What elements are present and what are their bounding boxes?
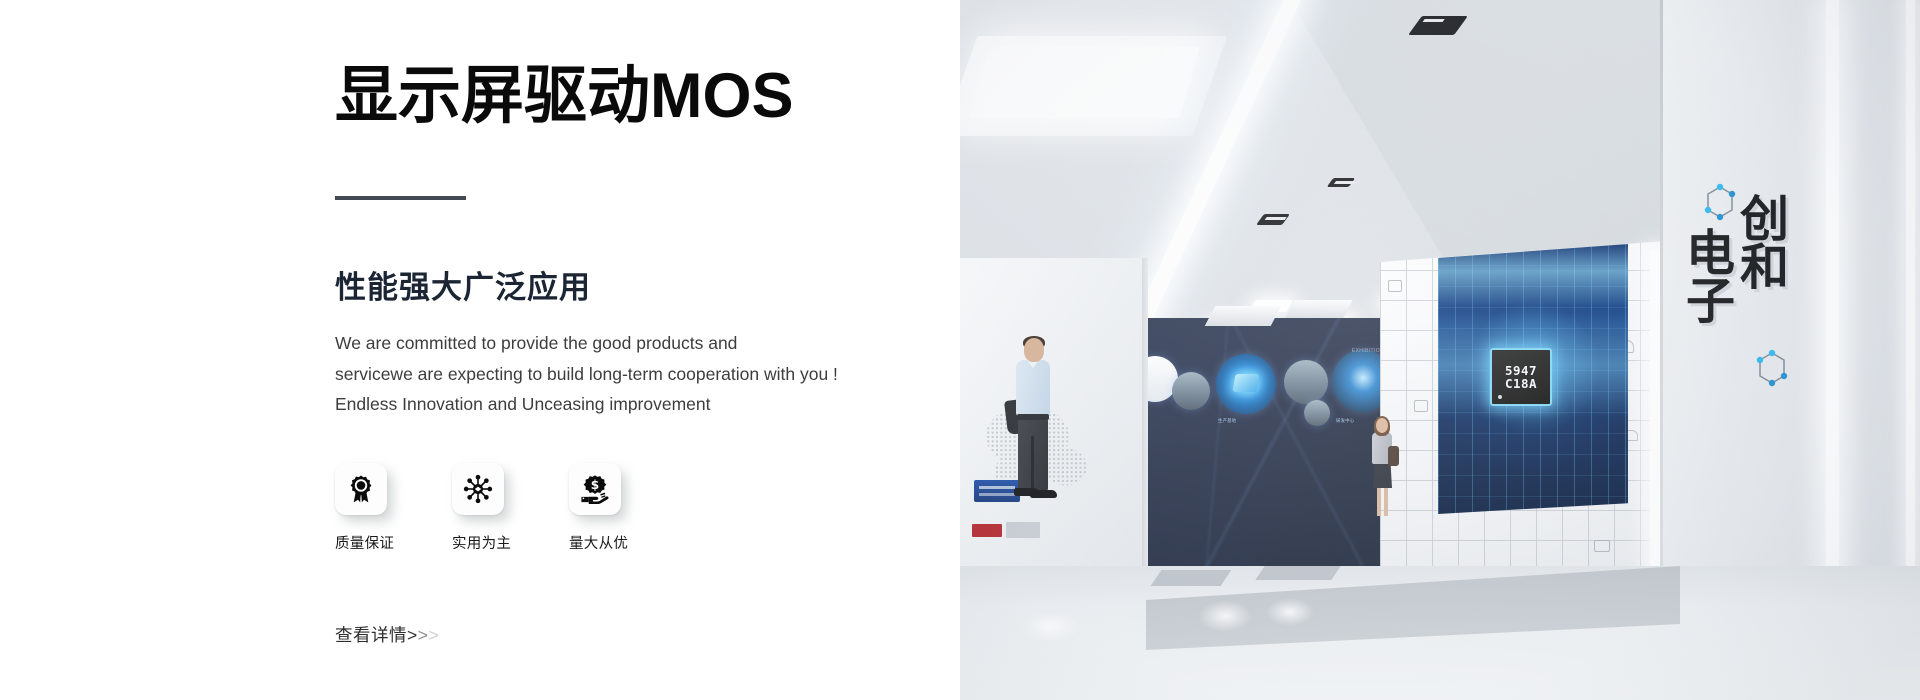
view-details-link[interactable]: 查看详情>>> xyxy=(335,622,439,647)
handbag xyxy=(1388,446,1399,466)
subtitle: 性能强大广泛应用 xyxy=(335,262,591,307)
page-title: 显示屏驱动MOS xyxy=(335,62,794,131)
porthole xyxy=(1304,400,1330,426)
feature-item-quality[interactable]: 质量保证 xyxy=(335,463,387,553)
logo-column-left: 电 子 xyxy=(1686,230,1734,326)
tile-pictogram xyxy=(1388,280,1402,292)
hexagon-molecule-icon xyxy=(1698,180,1742,230)
feature-item-practical[interactable]: 实用为主 xyxy=(452,463,504,553)
blue-circuit-display: 5947 C18A xyxy=(1438,244,1628,514)
svg-text:$: $ xyxy=(591,478,599,492)
feature-tile: $ xyxy=(569,463,621,515)
logo-char-chuang: 创 xyxy=(1740,196,1788,244)
belt xyxy=(1017,414,1049,420)
ceiling-baffle xyxy=(1205,306,1282,326)
logo-column-right: 创 和 xyxy=(1740,196,1788,326)
floor-reflection xyxy=(1020,612,1080,642)
floor-tile xyxy=(1255,566,1340,580)
shoe xyxy=(1030,490,1057,498)
hexagon-molecule-icon xyxy=(1750,346,1794,396)
left-text-panel: 显示屏驱动MOS 性能强大广泛应用 We are committed to pr… xyxy=(0,0,960,700)
porthole xyxy=(1216,354,1276,414)
head xyxy=(1376,418,1388,433)
feature-label: 质量保证 xyxy=(335,532,394,553)
description-line-3: Endless Innovation and Unceasing improve… xyxy=(335,389,895,420)
floor-tile xyxy=(1151,570,1232,586)
cta-chevron-1: > xyxy=(407,625,418,646)
feature-tile xyxy=(452,463,504,515)
feature-list: 质量保证 xyxy=(335,463,621,553)
legs xyxy=(1377,486,1388,516)
description-line-2: servicewe are expecting to build long-te… xyxy=(335,359,895,390)
logo-char-zi: 子 xyxy=(1686,278,1734,326)
title-divider xyxy=(335,196,466,200)
porthole xyxy=(1172,372,1210,410)
skirt xyxy=(1373,462,1392,488)
ceiling-baffle xyxy=(1285,300,1353,318)
cta-chevron-3: > xyxy=(428,625,439,646)
wall-red-sign xyxy=(972,524,1002,537)
trousers xyxy=(1018,418,1048,490)
logo-char-dian: 电 xyxy=(1686,230,1734,278)
skylight-panel xyxy=(970,46,1201,118)
wall-logo: 电 子 创 和 xyxy=(1686,196,1788,326)
cta-label: 查看详情 xyxy=(335,622,407,647)
chip-package: 5947 C18A xyxy=(1490,348,1552,406)
person-businesswoman xyxy=(1364,418,1398,522)
dress-shirt xyxy=(1016,360,1050,416)
porthole xyxy=(1284,360,1328,404)
person-businessman xyxy=(1002,338,1062,502)
award-ribbon-icon xyxy=(346,474,376,504)
wall-grey-sign xyxy=(1006,522,1040,538)
logo-char-he: 和 xyxy=(1740,244,1788,292)
chip-code-line-1: 5947 xyxy=(1505,364,1537,378)
feature-label: 实用为主 xyxy=(452,532,511,553)
tile-pictogram xyxy=(1594,540,1610,552)
feature-item-bulk[interactable]: $ 量大从优 xyxy=(569,463,621,553)
chip-code-line-2: C18A xyxy=(1505,377,1537,391)
porthole-label: 生产基地 xyxy=(1218,418,1236,424)
hand-money-icon: $ xyxy=(580,474,610,504)
porthole-label: 研发中心 xyxy=(1336,418,1354,424)
showroom-photo: 生产基地 研发中心 展厅 EXHIBITION HALL xyxy=(960,0,1920,700)
cta-chevron-2: > xyxy=(418,625,429,646)
description-line-1: We are committed to provide the good pro… xyxy=(335,328,895,359)
tile-pictogram xyxy=(1414,400,1428,412)
description-paragraph: We are committed to provide the good pro… xyxy=(335,328,895,420)
feature-label: 量大从优 xyxy=(569,532,628,553)
hero-banner: 显示屏驱动MOS 性能强大广泛应用 We are committed to pr… xyxy=(0,0,1920,700)
floor-reflection xyxy=(1198,600,1252,632)
floor-reflection xyxy=(1266,598,1314,626)
feature-tile xyxy=(335,463,387,515)
network-hub-icon xyxy=(463,474,493,504)
head xyxy=(1024,338,1044,362)
